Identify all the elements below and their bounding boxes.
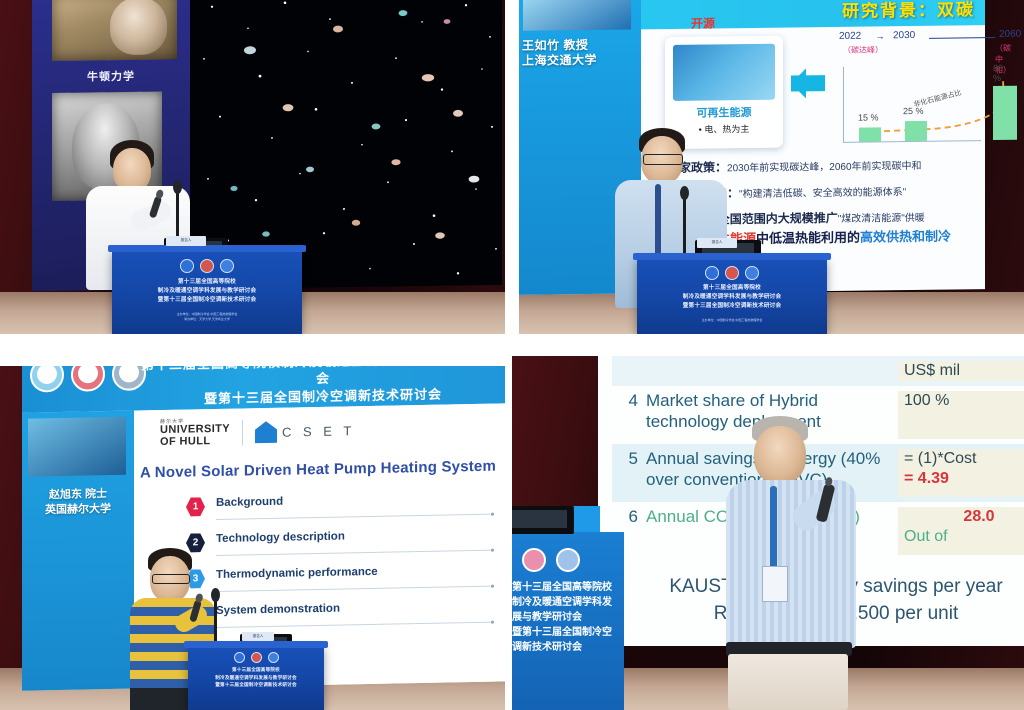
- header-text: 第十三届全国高等院校制冷及暖通空调学科发展与教学研讨会 暨第十三届全国制冷空调新…: [140, 366, 505, 409]
- column-header-units: US$ mil: [898, 361, 1024, 381]
- podium: 第十三届全国高等院校 制冷及暖通空调学科发展与教学研讨会 暨第十三届全国制冷空调…: [188, 646, 324, 710]
- arrow-glyph-1: →: [875, 31, 885, 42]
- podium: 第十三届全国高等院校 制冷及暖通空调学科发展与教学研讨会 暨第十三届全国制冷空调…: [512, 532, 624, 710]
- panel-newton-deepfield[interactable]: 牛顿力学 第十三届全国高等院校 制冷及暖通空调学科发展与教学研讨会: [0, 0, 505, 334]
- header-desc-spacer: [646, 361, 898, 381]
- seal-icon-2: [71, 366, 105, 392]
- speaker-affiliation: 上海交通大学: [522, 53, 640, 70]
- logo-icon-b: [556, 548, 580, 572]
- speaker-thumbnail: [523, 0, 631, 31]
- bar-label-2060: 80 %: [993, 63, 1003, 83]
- newton-caption: 牛顿力学: [32, 67, 190, 85]
- cset-label: C S E T: [282, 423, 355, 439]
- agenda-item[interactable]: 1 Background: [186, 490, 494, 532]
- cset-logo: C S E T: [255, 419, 355, 443]
- podium-top-edge: [633, 253, 831, 260]
- bar-2022: [859, 127, 881, 141]
- podium-line-2: 制冷及暖通空调学科发展与教学研讨会: [192, 674, 320, 682]
- podium-line-2: 制冷及暖通空调学科发展与教学研讨会: [512, 595, 618, 625]
- hull-logo-line-2: OF HULL: [160, 436, 230, 449]
- lanyard: [770, 486, 777, 572]
- institution-logos: 赫尔大学 UNIVERSITY OF HULL C S E T: [160, 416, 355, 448]
- chart-year-2030: 2030: [893, 30, 915, 41]
- university-of-hull-logo: 赫尔大学 UNIVERSITY OF HULL: [160, 419, 230, 449]
- row-value-4: 100 %: [898, 391, 1024, 439]
- annotation-peak: （碳达峰）: [843, 44, 883, 55]
- logo-icon-b: [725, 266, 739, 280]
- podium-line-3: 暨第十三届全国制冷空调新技术研讨会: [641, 302, 823, 311]
- podium-line-1: 第十三届全国高等院校: [641, 284, 823, 293]
- nameplate: 报告人: [166, 236, 206, 246]
- card-title: 可再生能源: [665, 104, 783, 121]
- badge: [762, 566, 788, 602]
- trousers: [728, 654, 848, 710]
- podium-fine-1: 主办单位：中国制冷学会 中国工程热物理学会: [647, 318, 817, 323]
- kaiyuan-label: 开源: [691, 14, 715, 31]
- bar-label-2030: 25 %: [903, 106, 924, 116]
- photo-collage: 牛顿力学 第十三届全国高等院校 制冷及暖通空调学科发展与教学研讨会: [0, 0, 1024, 710]
- header-num-spacer: [612, 361, 646, 381]
- podium-line-3: 暨第十三届全国制冷空调新技术研讨会: [192, 681, 320, 689]
- logo-icon-a: [705, 266, 719, 280]
- logo-icon-a: [522, 548, 546, 572]
- bar-2060: [993, 86, 1017, 140]
- agenda-label-2: Technology description: [216, 531, 345, 545]
- podium-fine-2: 承办单位：天津大学 天津商业大学: [122, 317, 292, 322]
- logo-icon-b: [251, 652, 262, 663]
- seal-icon-1: [30, 366, 64, 393]
- agenda-label-1: Background: [216, 496, 283, 509]
- podium-logos: [637, 266, 827, 280]
- panel-shanghai-jiaotong-dual-carbon[interactable]: 研究背景：双碳 王如竹 教授 上海交通大学 开源 可再生能源 • 电、热为主 2…: [519, 0, 1024, 334]
- speaker-info-rail: 赵旭东 院士 英国赫尔大学: [22, 411, 134, 691]
- speaker-affiliation: 英国赫尔大学: [26, 501, 130, 518]
- row-number-5: 5: [612, 449, 646, 497]
- podium-top-edge: [108, 245, 306, 252]
- panel-university-of-hull-solar-heat-pump[interactable]: 第十三届全国高等院校制冷及暖通空调学科发展与教学研讨会 暨第十三届全国制冷空调新…: [0, 366, 505, 710]
- podium-line-3: 暨第十三届全国制冷空调新技术研讨会: [116, 296, 298, 305]
- speaker-thumbnail: [28, 417, 126, 477]
- speaker-figure: [726, 416, 896, 710]
- row-value-5: = (1)*Cost = 4.39: [898, 449, 1024, 497]
- agenda-badge-1: 1: [186, 497, 205, 516]
- speaker-info: 赵旭东 院士 英国赫尔大学: [26, 487, 130, 518]
- panel-kaust-hybrid-mvc-table[interactable]: US$ mil 4 Market share of Hybrid technol…: [512, 356, 1024, 710]
- podium-line-2: 制冷及暖通空调学科发展与教学研讨会: [116, 287, 298, 296]
- house-icon: [255, 421, 277, 443]
- logo-icon-b: [200, 259, 214, 273]
- laptop: [512, 506, 574, 534]
- podium-line-3: 暨第十三届全国制冷空调新技术研讨会: [512, 625, 618, 655]
- slide-title: A Novel Solar Driven Heat Pump Heating S…: [134, 457, 502, 481]
- logo-divider: [242, 420, 243, 446]
- lanyard: [655, 184, 661, 262]
- podium-logos: [188, 652, 324, 663]
- chart-year-2022: 2022: [839, 31, 861, 42]
- podium-logos: [112, 259, 302, 273]
- nameplate: 报告人: [697, 238, 737, 248]
- chart-y-axis: [843, 67, 844, 143]
- conference-seals: [30, 366, 146, 393]
- row-value-6: 28.0 Out of: [898, 507, 1024, 555]
- podium-line-2: 制冷及暖通空调学科发展与教学研讨会: [641, 293, 823, 302]
- bar-2030: [905, 121, 927, 141]
- eyeglasses-icon: [643, 154, 683, 165]
- podium-line-1: 第十三届全国高等院校: [512, 580, 618, 595]
- newton-portrait: [52, 0, 177, 61]
- podium: 第十三届全国高等院校 制冷及暖通空调学科发展与教学研讨会 暨第十三届全国制冷空调…: [112, 250, 302, 334]
- row-number-4: 4: [612, 391, 646, 439]
- podium-top-edge: [184, 641, 328, 648]
- nameplate: 报告人: [242, 632, 274, 641]
- chart-year-2060: 2060: [999, 29, 1021, 40]
- dual-carbon-chart: 2022 → 2030 2060 （碳达峰） （碳中和） 非化石能源占比 15 …: [837, 29, 981, 149]
- speaker-name: 王如竹 教授: [522, 37, 640, 54]
- logo-icon-c: [220, 259, 234, 273]
- logo-icon-c: [268, 652, 279, 663]
- podium-line-1: 第十三届全国高等院校: [116, 278, 298, 287]
- eyeglasses-icon: [152, 574, 190, 584]
- logo-icon-c: [745, 266, 759, 280]
- logo-icon-a: [234, 652, 245, 663]
- slide-title: 研究背景：双碳: [842, 0, 975, 22]
- table-header-row: US$ mil: [612, 356, 1024, 386]
- arrow-left-icon: [791, 75, 825, 91]
- agenda-rule-1: [216, 514, 494, 520]
- solar-panel-image: [673, 44, 775, 101]
- speaker-info: 王如竹 教授 上海交通大学: [522, 37, 640, 69]
- chart-timeline: 2022 → 2030 2060 （碳达峰） （碳中和）: [837, 29, 981, 65]
- podium: 第十三届全国高等院校 制冷及暖通空调学科发展与教学研讨会 暨第十三届全国制冷空调…: [637, 258, 827, 334]
- podium-line-1: 第十三届全国高等院校: [192, 666, 320, 674]
- logo-icon-a: [180, 259, 194, 273]
- bar-label-2022: 15 %: [858, 112, 879, 122]
